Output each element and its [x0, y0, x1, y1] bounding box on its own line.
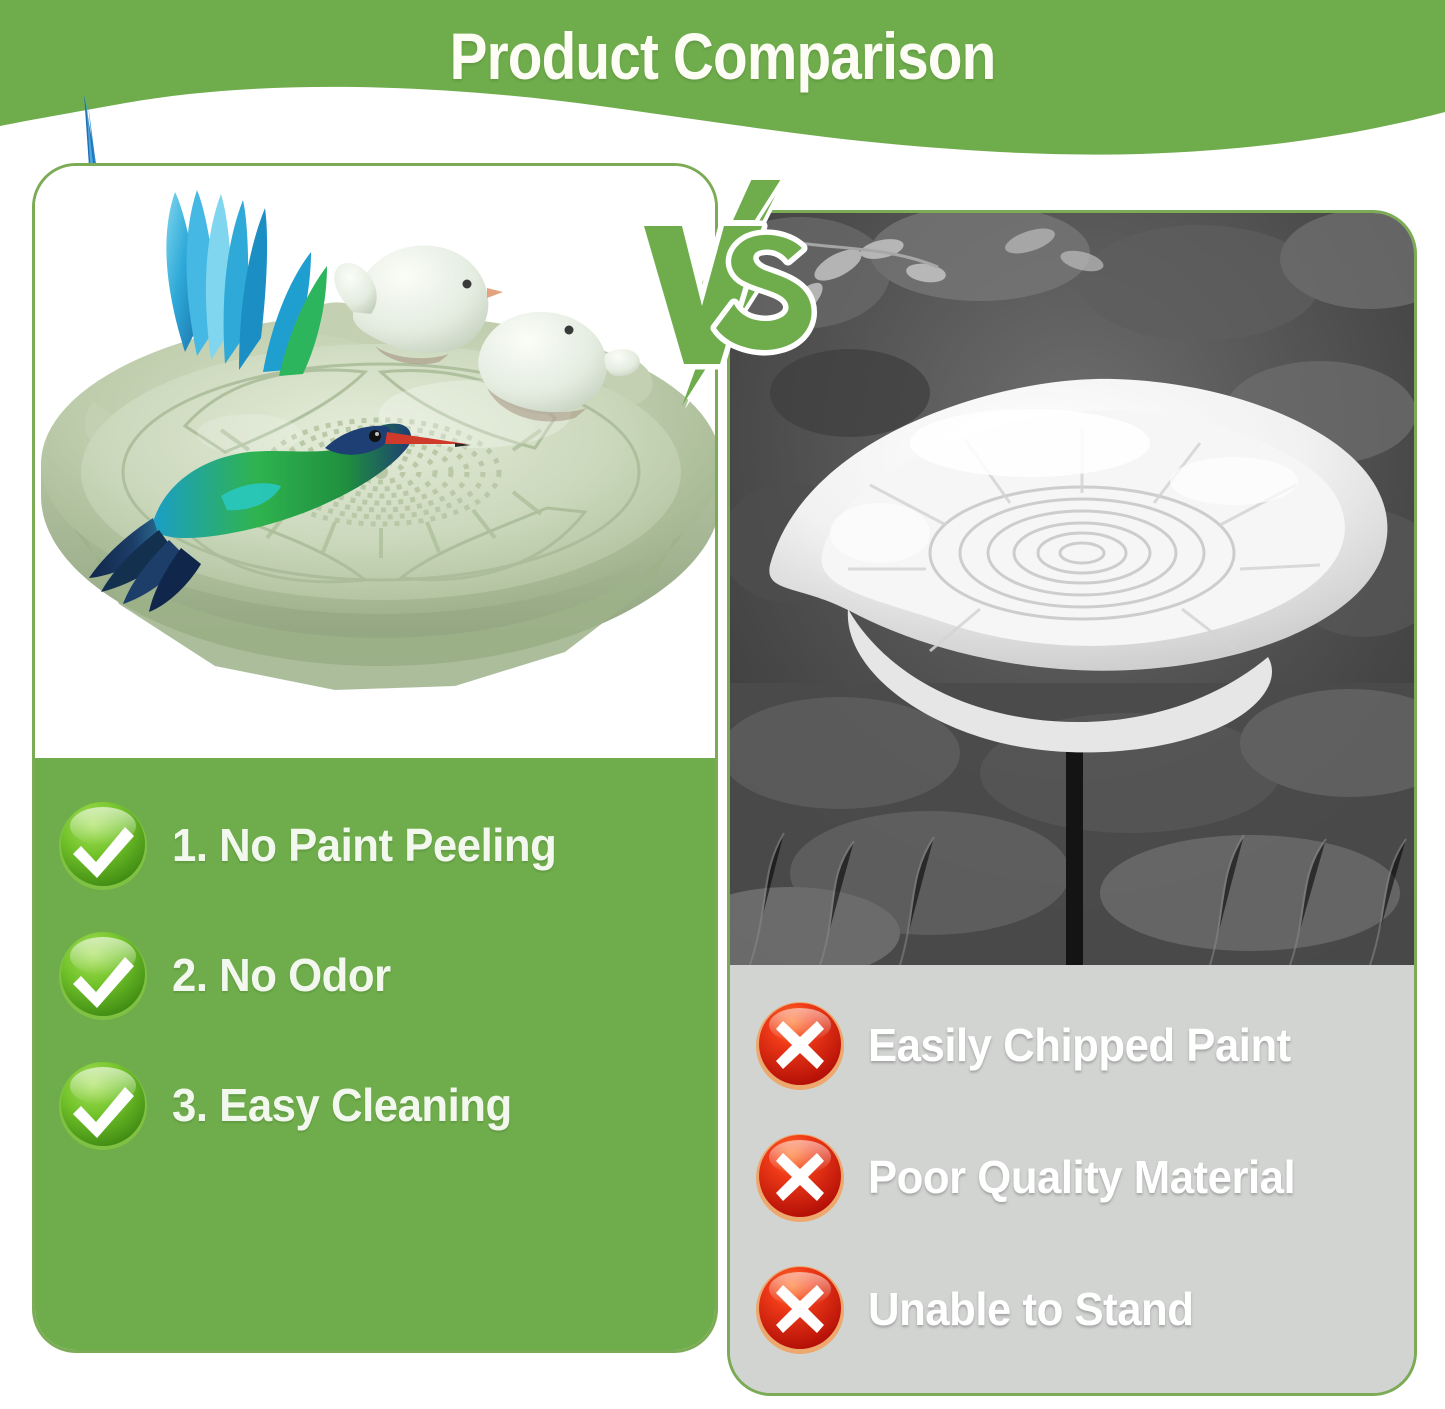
drawbacks-list: Easily Chipped Paint Poor Quality Materi… — [730, 979, 1414, 1375]
benefits-list: 1. No Paint Peeling 2. No Odor — [35, 780, 715, 1170]
check-circle-icon — [57, 799, 149, 891]
list-item: 3. Easy Cleaning — [35, 1040, 715, 1170]
cross-circle-icon — [754, 999, 846, 1091]
check-circle-icon — [57, 929, 149, 1021]
right-product-card: Easily Chipped Paint Poor Quality Materi… — [727, 210, 1417, 1396]
left-product-card: 1. No Paint Peeling 2. No Odor — [32, 163, 718, 1353]
cross-circle-icon — [754, 1263, 846, 1355]
benefit-label: 1. No Paint Peeling — [172, 818, 556, 872]
comparison-infographic: Product Comparison — [0, 0, 1445, 1409]
vs-text — [644, 226, 812, 364]
our-product-photo — [35, 166, 715, 758]
cross-circle-icon — [754, 1131, 846, 1223]
our-product-benefits-area: 1. No Paint Peeling 2. No Odor — [35, 758, 715, 1350]
list-item: Unable to Stand — [730, 1243, 1414, 1375]
list-item: 1. No Paint Peeling — [35, 780, 715, 910]
benefit-label: 2. No Odor — [172, 948, 391, 1002]
check-circle-icon — [57, 1059, 149, 1151]
benefit-label: 3. Easy Cleaning — [172, 1078, 512, 1132]
drawback-label: Easily Chipped Paint — [868, 1018, 1291, 1072]
drawback-label: Poor Quality Material — [868, 1150, 1295, 1204]
competitor-drawbacks-area: Easily Chipped Paint Poor Quality Materi… — [730, 965, 1414, 1393]
list-item: Poor Quality Material — [730, 1111, 1414, 1243]
list-item: Easily Chipped Paint — [730, 979, 1414, 1111]
competitor-product-photo — [730, 213, 1414, 965]
page-title: Product Comparison — [101, 18, 1344, 94]
list-item: 2. No Odor — [35, 910, 715, 1040]
drawback-label: Unable to Stand — [868, 1282, 1193, 1336]
vs-badge — [638, 178, 818, 418]
